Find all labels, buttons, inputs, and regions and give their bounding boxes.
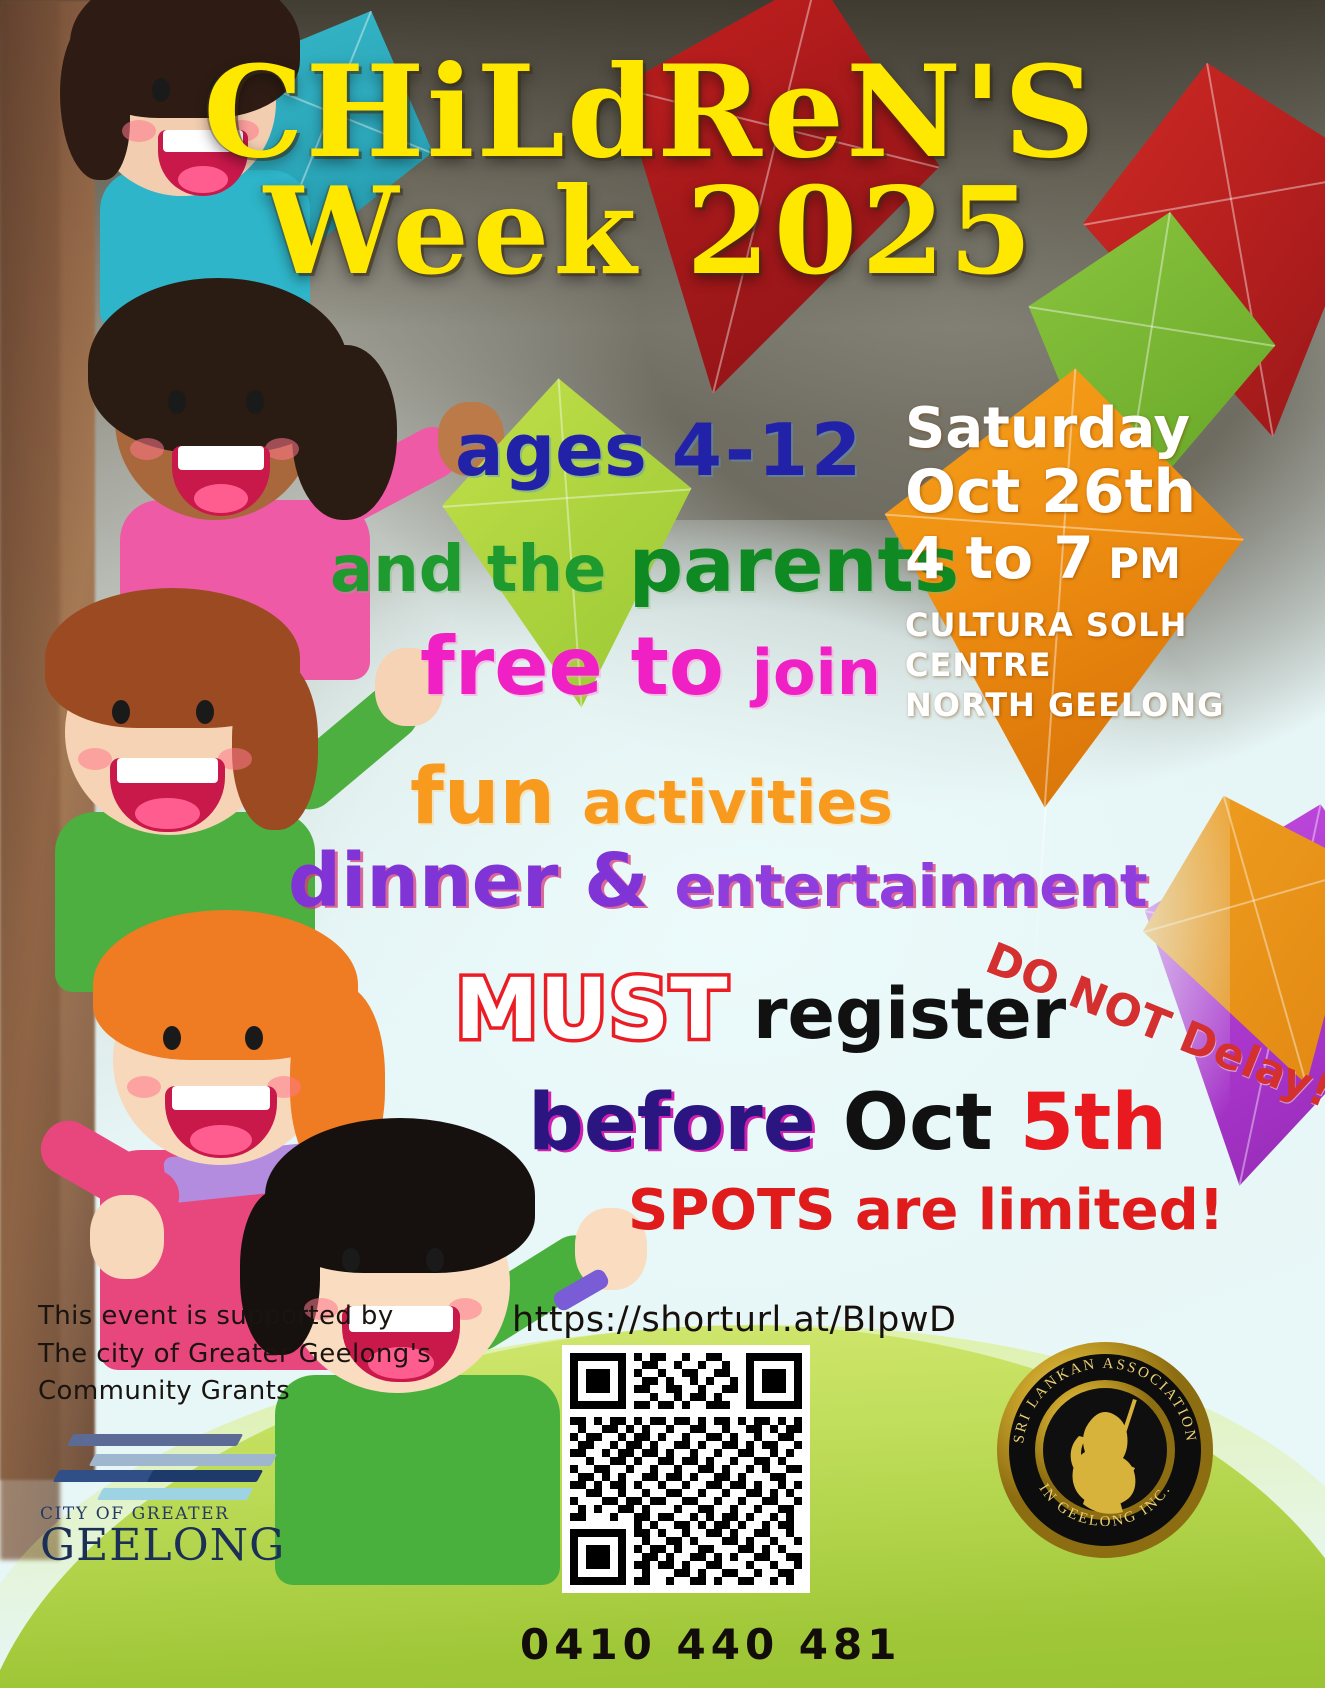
before-word: before [528, 1078, 843, 1168]
line-before-date: before Oct 5th [528, 1078, 1167, 1168]
ages-word: ages [455, 408, 672, 492]
child-illustration-1 [60, 0, 360, 280]
qr-code-svg [570, 1353, 802, 1585]
seal-svg: SRI LANKAN ASSOCIATION IN GEELONG INC. [995, 1340, 1215, 1560]
activities-word: activities [582, 768, 893, 838]
dinner-word: dinner & [288, 838, 674, 924]
poster-canvas: CHiLdReN'S Week 2025 ages 4-12 and the p… [0, 0, 1325, 1688]
before-day: 5th [993, 1078, 1167, 1168]
support-text: This event is supported by The city of G… [38, 1298, 431, 1411]
support-line-1: This event is supported by [38, 1298, 431, 1336]
sri-lankan-association-seal: SRI LANKAN ASSOCIATION IN GEELONG INC. [995, 1340, 1215, 1560]
city-of-greater-geelong-logo: CITY OF GREATER GEELONG [40, 1430, 290, 1568]
fun-word: fun [410, 752, 582, 842]
line-must-register: MUST register [455, 960, 1066, 1058]
parents-prefix: and the [330, 533, 629, 607]
parents-word: parents [629, 520, 959, 609]
line-ages: ages 4-12 [455, 408, 864, 492]
registration-url[interactable]: https://shorturl.at/BIpwD [512, 1300, 956, 1340]
must-word: MUST [455, 960, 729, 1058]
geelong-logo-mark [40, 1430, 290, 1500]
join-word: join [752, 636, 881, 709]
ages-range: 4-12 [672, 408, 864, 492]
support-line-2: The city of Greater Geelong's [38, 1336, 431, 1374]
contact-phone: 0410 440 481 [520, 1620, 901, 1669]
line-dinner-entertainment: dinner & entertainment [288, 838, 1148, 924]
line-spots-limited: SPOTS are limited! [628, 1178, 1224, 1243]
line-parents: and the parents [330, 520, 959, 609]
entertainment-word: entertainment [674, 852, 1147, 920]
qr-code-icon[interactable] [562, 1345, 810, 1593]
before-month: Oct [843, 1078, 993, 1168]
line-free-to-join: free to join [420, 620, 881, 713]
line-fun-activities: fun activities [410, 752, 893, 842]
free-word: free to [420, 620, 752, 713]
support-line-3: Community Grants [38, 1373, 431, 1411]
geelong-logo-name: GEELONG [40, 1524, 290, 1568]
